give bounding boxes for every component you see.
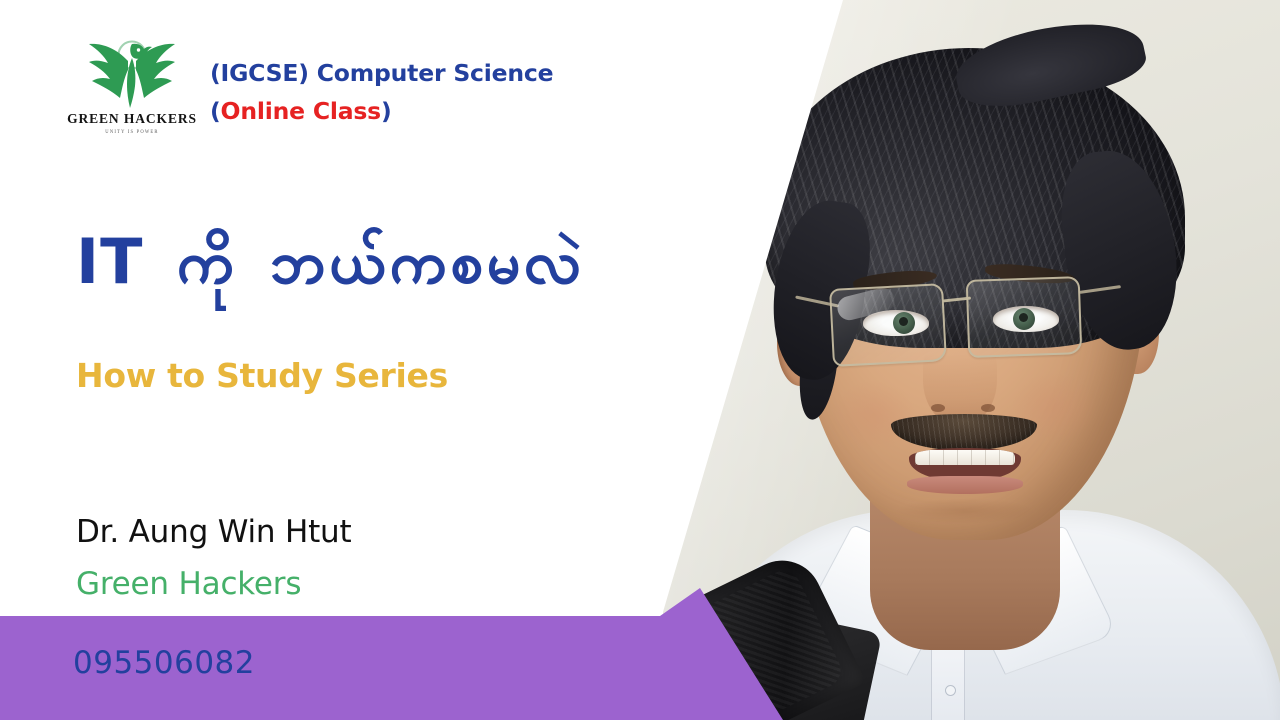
green-hackers-logo: GREEN HACKERS UNITY IS POWER [76, 34, 188, 144]
series-subtitle: How to Study Series [76, 356, 448, 395]
header: GREEN HACKERS UNITY IS POWER (IGCSE) Com… [76, 34, 553, 144]
glasses-lens-right [966, 276, 1083, 358]
course-title-line2: (Online Class) [210, 94, 553, 130]
presenter-organization: Green Hackers [76, 566, 301, 602]
course-title-block: (IGCSE) Computer Science (Online Class) [210, 34, 553, 129]
chin-shadow [895, 498, 1035, 524]
paren-open: ( [210, 97, 221, 125]
logo-tagline: UNITY IS POWER [105, 129, 158, 135]
lower-lip [907, 476, 1023, 494]
nostril-right [981, 404, 995, 412]
glasses-lens-left [829, 283, 947, 367]
paren-close: ) [381, 97, 392, 125]
teeth [915, 450, 1015, 465]
course-title-line1: (IGCSE) Computer Science [210, 56, 553, 92]
title-burmese-part: ကို ဘယ်ကစမလဲ [176, 223, 583, 314]
title-latin-part: IT [76, 225, 143, 298]
contact-phone: 095506082 [73, 645, 255, 681]
slide-canvas: GREEN HACKERS UNITY IS POWER (IGCSE) Com… [0, 0, 1280, 720]
online-class-label: Online Class [221, 97, 381, 125]
page-title: IT ကို ဘယ်ကစမလဲ [76, 228, 583, 303]
nostril-left [931, 404, 945, 412]
logo-wordmark: GREEN HACKERS [67, 111, 197, 127]
shirt-button [945, 685, 956, 696]
presenter-name: Dr. Aung Win Htut [76, 514, 351, 550]
phoenix-icon [86, 34, 178, 110]
